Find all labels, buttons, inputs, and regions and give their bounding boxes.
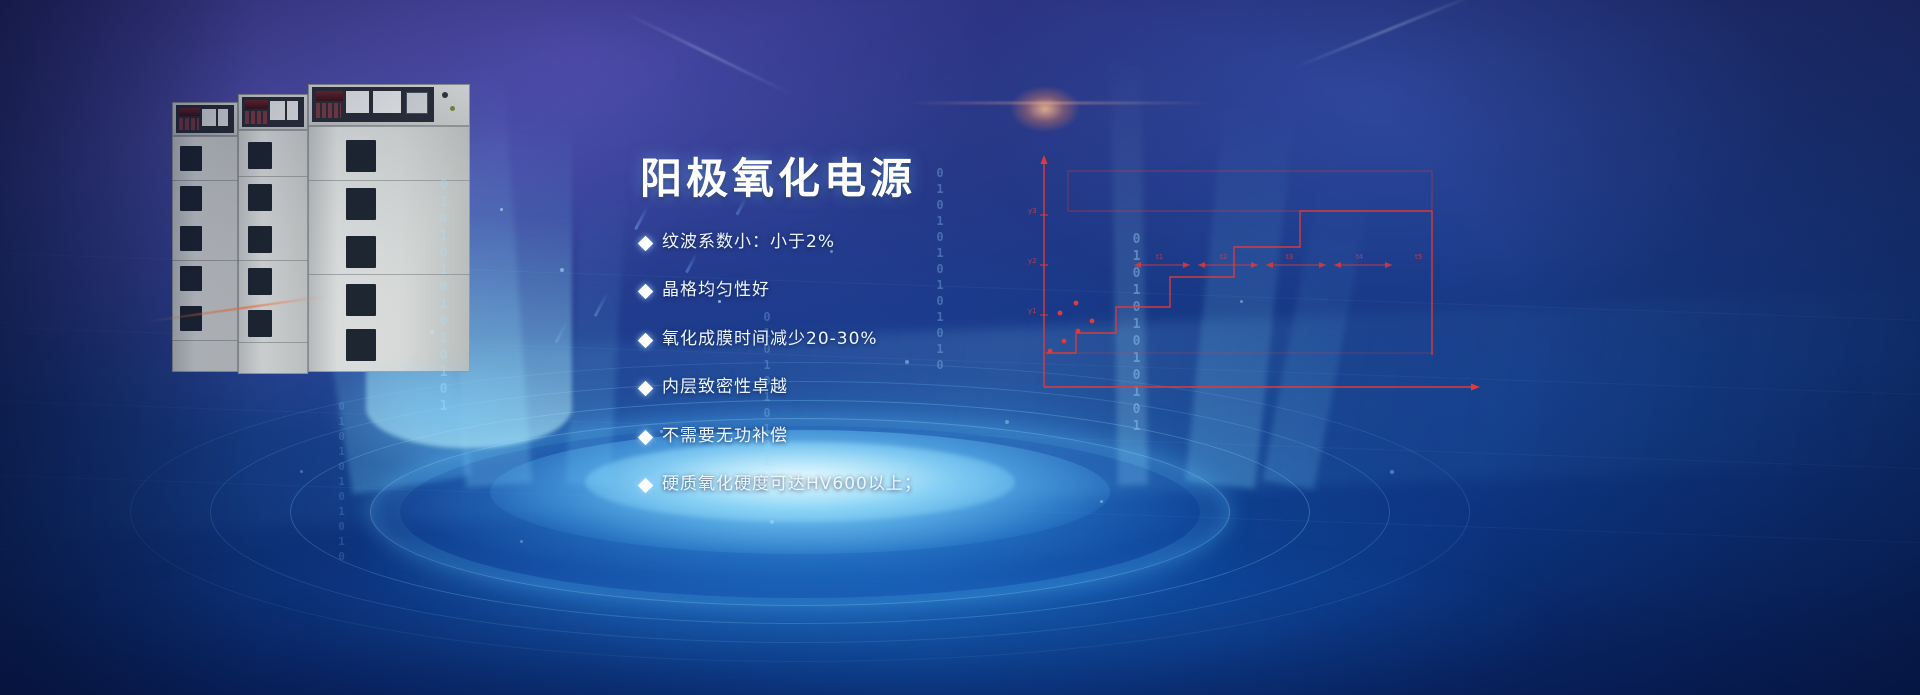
lens-flare-icon — [1010, 86, 1080, 132]
cabinet-label — [373, 91, 401, 113]
feature-text: 硬质氧化硬度可达HV600以上； — [662, 474, 922, 494]
cabinet-label — [218, 109, 228, 126]
cabinet-seam — [238, 176, 308, 177]
list-item: 氧化成膜时间减少20-30% — [640, 329, 1110, 349]
cabinet-vent — [346, 188, 376, 220]
svg-text:t1: t1 — [1156, 253, 1163, 261]
cabinet-keypad — [245, 111, 267, 124]
cabinet-vent — [346, 140, 376, 172]
particle — [560, 268, 564, 272]
flare-streak — [905, 102, 1215, 104]
diamond-bullet-icon — [638, 429, 654, 445]
svg-text:t2: t2 — [1220, 253, 1227, 261]
diamond-bullet-icon — [638, 333, 654, 349]
page-title: 阳极氧化电源 — [640, 145, 916, 206]
chart-x-tick-labels: t1 t2 t3 t4 t5 — [1156, 253, 1422, 261]
cabinet-vent — [180, 306, 202, 331]
cabinet-seam — [172, 180, 238, 181]
diamond-bullet-icon — [638, 284, 654, 300]
binary-code-column: 01010101010101 — [436, 178, 451, 416]
cabinet-keypad — [179, 118, 199, 130]
cabinet-vent — [248, 268, 272, 295]
chart-y-axis-arrow — [1041, 155, 1048, 164]
cabinet-label — [270, 101, 285, 120]
cabinet-vent — [180, 266, 202, 291]
cabinet-label — [346, 91, 369, 113]
cabinet-display — [316, 91, 343, 101]
chart-envelope — [1068, 171, 1432, 211]
svg-text:y3: y3 — [1028, 207, 1037, 215]
feature-list: 纹波系数小：小于2% 晶格均匀性好 氧化成膜时间减少20-30% 内层致密性卓越… — [640, 232, 1110, 522]
feature-text: 不需要无功补偿 — [662, 426, 788, 446]
feature-text: 内层致密性卓越 — [662, 377, 788, 397]
feature-text: 纹波系数小：小于2% — [662, 232, 835, 252]
list-item: 内层致密性卓越 — [640, 377, 1110, 397]
diamond-bullet-icon — [638, 236, 654, 252]
cabinet-vent — [180, 146, 202, 171]
cabinet-vent — [346, 284, 376, 316]
cabinet-display — [179, 108, 200, 116]
svg-text:t4: t4 — [1356, 253, 1364, 261]
feature-text: 晶格均匀性好 — [662, 280, 770, 300]
list-item: 硬质氧化硬度可达HV600以上； — [640, 474, 1110, 494]
cabinet-display — [245, 100, 268, 109]
cabinet-seam — [172, 260, 238, 261]
cabinet-vent — [346, 236, 376, 268]
diamond-bullet-icon — [638, 478, 654, 494]
cabinet-body — [172, 136, 238, 372]
particle — [1390, 470, 1394, 474]
list-item: 纹波系数小：小于2% — [640, 232, 1110, 252]
cabinet-label — [202, 109, 216, 126]
cabinet-indicator — [442, 92, 448, 98]
list-item: 晶格均匀性好 — [640, 280, 1110, 300]
cabinet-seam — [238, 342, 308, 343]
feature-text: 氧化成膜时间减少20-30% — [662, 329, 878, 349]
cabinet-keypad — [316, 103, 341, 118]
cabinet-seam — [172, 340, 238, 341]
binary-code-column: 01010101010 — [335, 400, 348, 565]
cabinet-label — [287, 101, 298, 120]
chart-envelope-top — [1068, 171, 1432, 211]
svg-text:t5: t5 — [1415, 253, 1422, 261]
list-item: 不需要无功补偿 — [640, 426, 1110, 446]
cabinet-vent — [180, 226, 202, 251]
cabinet-vent — [248, 310, 272, 337]
cabinet-vent — [248, 184, 272, 211]
product-banner: 01010101010101 0101010101010 01010101010… — [0, 0, 1920, 695]
particle — [500, 208, 503, 211]
chart-x-axis-arrow — [1471, 384, 1480, 391]
particle — [300, 470, 303, 473]
chart-dimension-arrows — [1134, 262, 1392, 268]
flare-streak-secondary — [1292, 0, 1487, 69]
cabinet-status-led — [450, 106, 455, 111]
diamond-bullet-icon — [638, 381, 654, 397]
particle — [430, 330, 434, 334]
cabinet-vent — [248, 226, 272, 253]
cabinet-vent — [248, 142, 272, 169]
particle — [520, 540, 523, 543]
cabinet-seam — [238, 260, 308, 261]
cabinet-gauge — [406, 92, 428, 114]
svg-text:t3: t3 — [1286, 253, 1293, 261]
cabinet-vent — [180, 186, 202, 211]
